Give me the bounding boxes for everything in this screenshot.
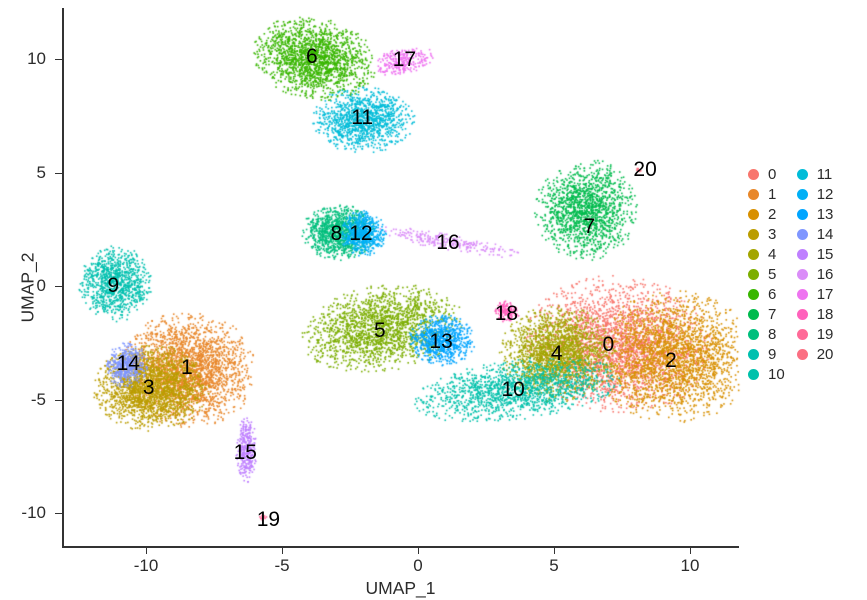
x-tick-label: -10 [116,556,176,576]
legend-color-dot-icon [748,369,759,380]
legend-item-12[interactable]: 12 [797,184,834,204]
x-tick-mark [282,547,283,554]
legend-color-dot-icon [748,209,759,220]
legend-item-label: 3 [768,227,776,242]
legend-color-dot-icon [748,189,759,200]
cluster-label-5: 5 [374,319,386,343]
legend-item-2[interactable]: 2 [748,204,785,224]
legend-item-label: 9 [768,347,776,362]
cluster-label-10: 10 [502,378,525,402]
legend-item-7[interactable]: 7 [748,304,785,324]
umap-scatter-plot: -10-50510 -10-50510 01234567891011121314… [0,0,867,600]
legend-color-dot-icon [797,209,808,220]
x-tick-label: 0 [388,556,448,576]
legend-item-label: 7 [768,307,776,322]
y-tick-label: 5 [0,163,46,183]
legend-item-14[interactable]: 14 [797,224,834,244]
legend-color-dot-icon [748,169,759,180]
legend-item-18[interactable]: 18 [797,304,834,324]
legend-item-label: 6 [768,287,776,302]
cluster-label-8: 8 [331,222,343,246]
legend-color-dot-icon [797,249,808,260]
legend-color-dot-icon [748,289,759,300]
y-tick-label: -5 [0,390,46,410]
y-tick-label: 10 [0,49,46,69]
legend-item-9[interactable]: 9 [748,344,785,364]
legend-color-dot-icon [797,349,808,360]
y-tick-mark [55,513,62,514]
cluster-label-12: 12 [349,222,372,246]
legend-color-dot-icon [797,309,808,320]
cluster-label-7: 7 [584,215,596,239]
legend-item-label: 4 [768,247,776,262]
legend-color-dot-icon [797,189,808,200]
legend-item-16[interactable]: 16 [797,264,834,284]
legend-item-0[interactable]: 0 [748,164,785,184]
y-tick-mark [55,286,62,287]
legend-item-3[interactable]: 3 [748,224,785,244]
legend-item-13[interactable]: 13 [797,204,834,224]
legend-item-label: 8 [768,327,776,342]
legend-item-label: 11 [817,167,833,182]
y-axis-line [62,8,64,546]
x-axis-line [62,546,739,548]
cluster-label-19: 19 [257,508,280,532]
scatter-point-canvas [0,0,867,600]
legend-color-dot-icon [748,249,759,260]
x-tick-label: 10 [660,556,720,576]
legend-item-17[interactable]: 17 [797,284,834,304]
cluster-label-15: 15 [234,441,257,465]
legend-item-11[interactable]: 11 [797,164,834,184]
legend-color-dot-icon [797,329,808,340]
legend-item-6[interactable]: 6 [748,284,785,304]
legend-item-label: 16 [817,267,834,282]
legend-color-dot-icon [748,269,759,280]
legend-item-10[interactable]: 10 [748,364,785,384]
legend-item-label: 2 [768,207,776,222]
x-axis-title: UMAP_1 [62,578,739,599]
legend-item-label: 19 [817,327,834,342]
legend-column-1: 012345678910 [748,164,785,384]
cluster-label-13: 13 [429,330,452,354]
x-tick-mark [146,547,147,554]
legend-color-dot-icon [748,309,759,320]
x-tick-label: 5 [524,556,584,576]
cluster-label-2: 2 [665,349,677,373]
cluster-label-20: 20 [633,158,656,182]
legend-item-label: 10 [768,367,785,382]
cluster-label-4: 4 [551,342,563,366]
legend-item-15[interactable]: 15 [797,244,834,264]
legend-color-dot-icon [797,269,808,280]
legend-item-5[interactable]: 5 [748,264,785,284]
cluster-label-16: 16 [436,231,459,255]
legend-item-19[interactable]: 19 [797,324,834,344]
cluster-label-6: 6 [306,45,318,69]
legend-item-label: 20 [817,347,834,362]
legend-item-label: 13 [817,207,834,222]
legend-color-dot-icon [797,229,808,240]
cluster-label-0: 0 [603,333,615,357]
legend-item-label: 15 [817,247,834,262]
y-axis-title: UMAP_2 [18,208,39,368]
legend-column-2: 11121314151617181920 [797,164,834,384]
cluster-label-11: 11 [351,106,373,130]
legend-color-dot-icon [748,329,759,340]
cluster-label-18: 18 [495,302,518,326]
legend-item-8[interactable]: 8 [748,324,785,344]
legend-item-label: 1 [768,187,776,202]
legend-item-4[interactable]: 4 [748,244,785,264]
cluster-label-17: 17 [393,48,416,72]
cluster-label-9: 9 [108,274,120,298]
y-tick-mark [55,173,62,174]
cluster-label-14: 14 [117,352,140,376]
legend-color-dot-icon [797,169,808,180]
legend-item-label: 5 [768,267,776,282]
cluster-label-3: 3 [143,376,155,400]
legend-item-label: 0 [768,167,776,182]
legend-item-20[interactable]: 20 [797,344,834,364]
cluster-label-1: 1 [181,356,193,380]
legend-item-label: 18 [817,307,834,322]
y-tick-label: -10 [0,503,46,523]
legend-color-dot-icon [748,229,759,240]
cluster-legend[interactable]: 01234567891011121314151617181920 [748,164,860,384]
x-tick-mark [554,547,555,554]
x-tick-label: -5 [252,556,312,576]
y-tick-mark [55,400,62,401]
legend-item-label: 17 [817,287,834,302]
x-tick-mark [690,547,691,554]
legend-item-1[interactable]: 1 [748,184,785,204]
legend-color-dot-icon [797,289,808,300]
legend-color-dot-icon [748,349,759,360]
legend-item-label: 14 [817,227,834,242]
y-tick-mark [55,59,62,60]
legend-item-label: 12 [817,187,834,202]
x-tick-mark [418,547,419,554]
